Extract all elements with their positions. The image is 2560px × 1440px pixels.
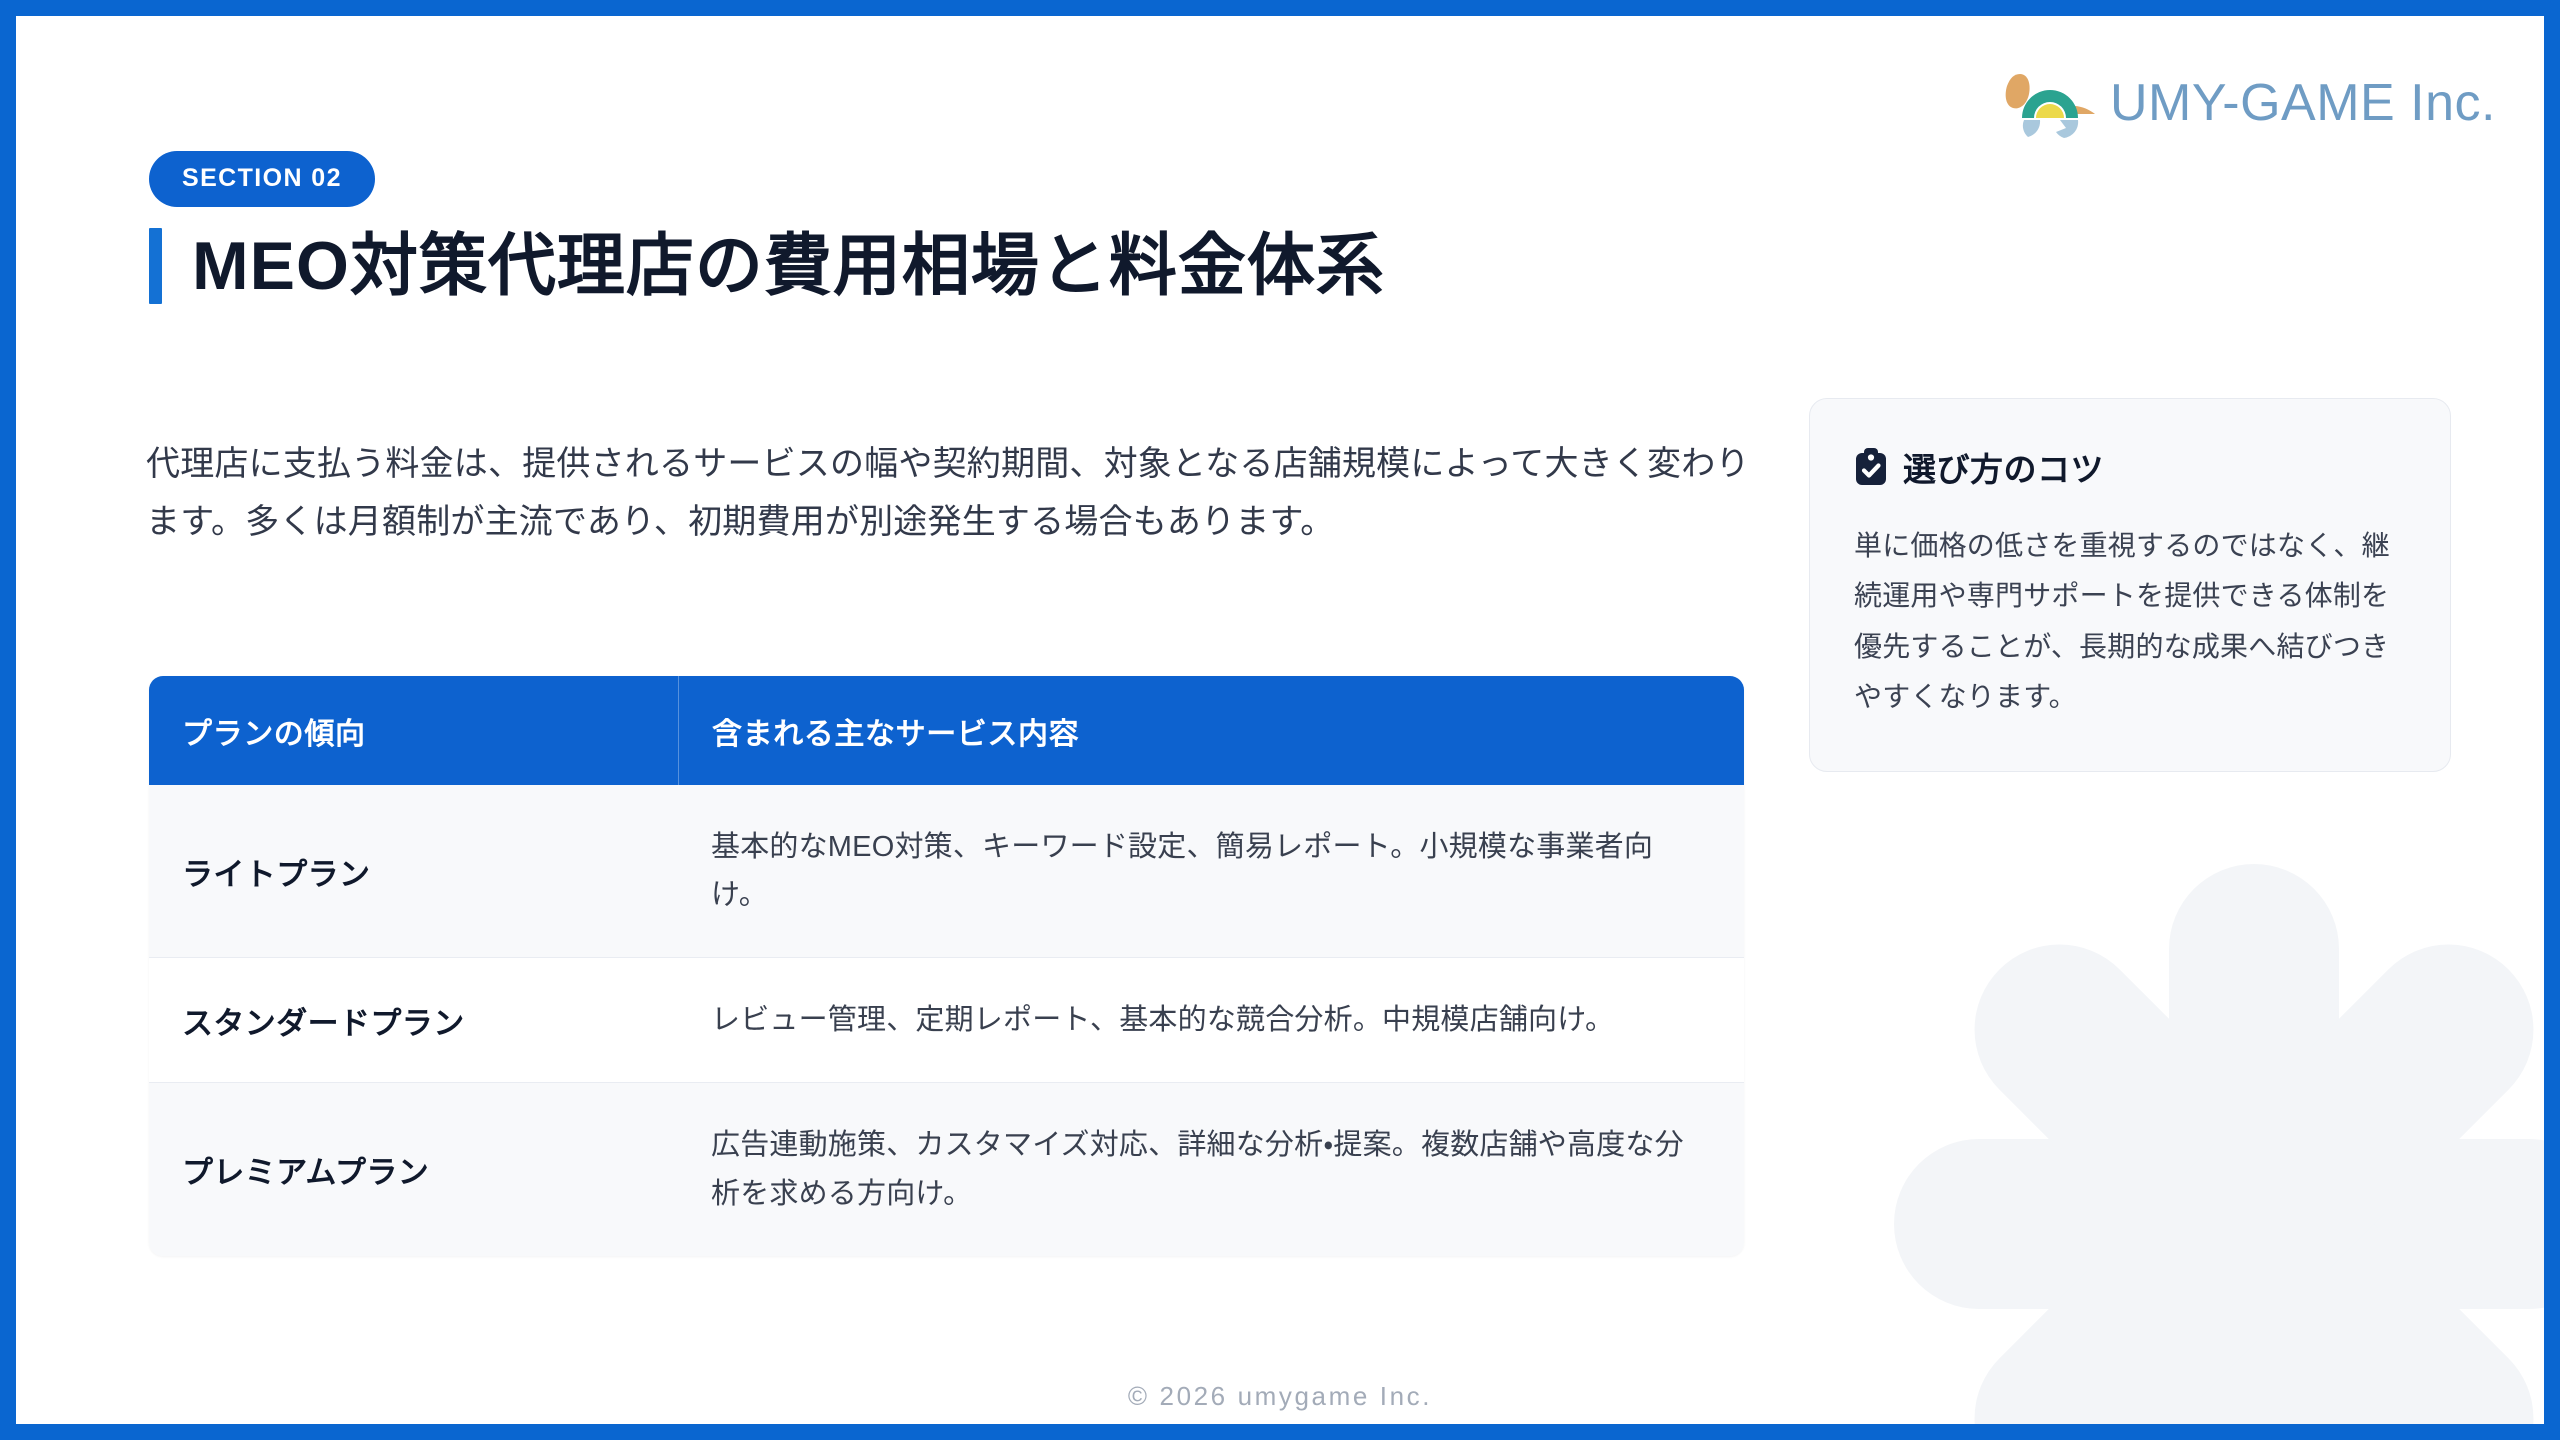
slide-root: UMY-GAME Inc. SECTION 02 MEO対策代理店の費用相場と料… — [0, 0, 2560, 1440]
clipboard-check-icon — [1854, 448, 1888, 486]
plan-table: プランの傾向 含まれる主なサービス内容 ライトプラン 基本的なMEO対策、キーワ… — [149, 676, 1744, 1256]
section-badge: SECTION 02 — [149, 151, 375, 207]
table-cell-description: レビュー管理、定期レポート、基本的な競合分析。中規模店舗向け。 — [678, 958, 1744, 1082]
table-header-plan: プランの傾向 — [149, 676, 678, 785]
table-row: ライトプラン 基本的なMEO対策、キーワード設定、簡易レポート。小規模な事業者向… — [149, 785, 1744, 958]
brand-logo: UMY-GAME Inc. — [2000, 62, 2496, 144]
page-title-text: MEO対策代理店の費用相場と料金体系 — [192, 228, 1385, 304]
slide-canvas: UMY-GAME Inc. SECTION 02 MEO対策代理店の費用相場と料… — [16, 16, 2544, 1424]
table-header-services: 含まれる主なサービス内容 — [678, 676, 1744, 785]
intro-paragraph: 代理店に支払う料金は、提供されるサービスの幅や契約期間、対象となる店舗規模によっ… — [146, 435, 1756, 552]
tip-card-title: 選び方のコツ — [1903, 443, 2104, 491]
table-cell-plan: ライトプラン — [149, 785, 678, 957]
table-cell-description: 基本的なMEO対策、キーワード設定、簡易レポート。小規模な事業者向け。 — [678, 785, 1744, 957]
footer-copyright: © 2026 umygame Inc. — [16, 1381, 2544, 1412]
tip-card-body: 単に価格の低さを重視するのではなく、継続運用や専門サポートを提供できる体制を優先… — [1854, 521, 2406, 723]
table-row: プレミアムプラン 広告連動施策、カスタマイズ対応、詳細な分析・提案。複数店舗や高… — [149, 1083, 1744, 1255]
table-cell-plan: スタンダードプラン — [149, 958, 678, 1082]
page-title: MEO対策代理店の費用相場と料金体系 — [149, 228, 1385, 304]
logo-wordmark: UMY-GAME Inc. — [2110, 73, 2496, 133]
table-cell-description: 広告連動施策、カスタマイズ対応、詳細な分析・提案。複数店舗や高度な分析を求める方… — [678, 1083, 1744, 1255]
tip-card-header: 選び方のコツ — [1854, 443, 2406, 491]
tip-card: 選び方のコツ 単に価格の低さを重視するのではなく、継続運用や専門サポートを提供で… — [1809, 398, 2451, 772]
table-header-row: プランの傾向 含まれる主なサービス内容 — [149, 676, 1744, 785]
umygame-logo-mark-icon — [2000, 62, 2096, 144]
title-accent-bar — [149, 228, 162, 304]
table-row: スタンダードプラン レビュー管理、定期レポート、基本的な競合分析。中規模店舗向け… — [149, 958, 1744, 1083]
table-cell-plan: プレミアムプラン — [149, 1083, 678, 1255]
